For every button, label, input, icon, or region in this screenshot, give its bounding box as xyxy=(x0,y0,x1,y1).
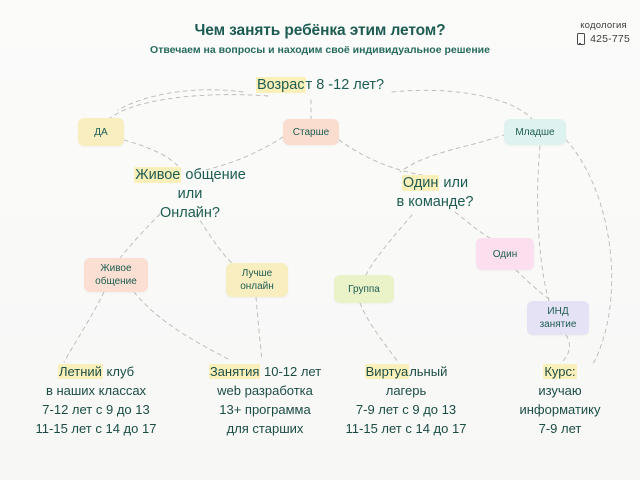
node-individual-lesson[interactable]: ИНД занятие xyxy=(527,301,589,335)
result-web-course: Занятия 10-12 лет web разработка 13+ про… xyxy=(185,362,345,438)
node-starshe[interactable]: Старше xyxy=(283,119,339,145)
node-group[interactable]: Группа xyxy=(334,275,394,303)
node-da[interactable]: ДА xyxy=(78,118,124,146)
result-virtual-camp-highlight: Виртуа xyxy=(365,364,410,379)
node-live-communication[interactable]: Живое общение xyxy=(84,258,148,292)
page-title: Чем занять ребёнка этим летом? xyxy=(0,22,640,40)
brand-logo: кодология 425-775 xyxy=(577,20,630,45)
result-informatics-course-highlight: Курс: xyxy=(543,364,576,379)
result-informatics-course: Курс: изучаю информатику 7-9 лет xyxy=(482,362,638,438)
brand-phone: 425-775 xyxy=(590,33,630,45)
result-virtual-camp: Виртуальный лагерь 7-9 лет с 9 до 13 11-… xyxy=(322,362,490,438)
question-team-highlight: Один xyxy=(402,175,440,191)
infographic-canvas: Чем занять ребёнка этим летом? Отвечаем … xyxy=(0,0,640,480)
result-summer-club: Летний клуб в наших классах 7-12 лет с 9… xyxy=(6,362,186,438)
node-better-online[interactable]: Лучше онлайн xyxy=(226,263,288,297)
brand-contact-row: 425-775 xyxy=(577,33,630,45)
brand-name: кодология xyxy=(577,20,630,31)
result-web-course-highlight: Занятия xyxy=(209,364,261,379)
question-communication: Живое общение или Онлайн? xyxy=(90,166,290,223)
result-summer-club-highlight: Летний xyxy=(58,364,103,379)
question-communication-highlight: Живое xyxy=(134,167,181,183)
page-subtitle: Отвечаем на вопросы и находим своё индив… xyxy=(0,44,640,56)
question-root-rest: т 8 -12 лет? xyxy=(306,77,385,93)
result-informatics-course-rest: изучаю информатику 7-9 лет xyxy=(519,383,600,436)
question-root-highlight: Возрас xyxy=(256,77,306,93)
node-alone[interactable]: Один xyxy=(476,238,534,270)
question-root: Возраст 8 -12 лет? xyxy=(220,76,420,95)
question-team: Один или в команде? xyxy=(355,174,515,212)
node-mladshe[interactable]: Младше xyxy=(504,119,566,145)
mobile-phone-icon xyxy=(577,33,585,45)
